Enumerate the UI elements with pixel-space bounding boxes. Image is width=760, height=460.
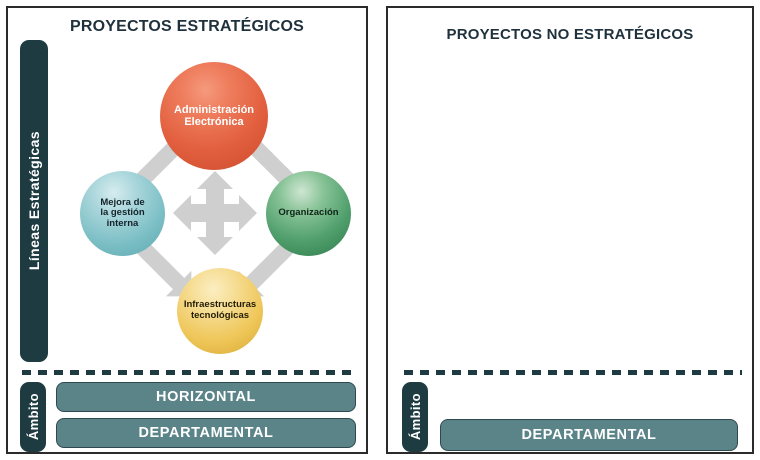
sphere-organizacion[interactable]: Organización (266, 171, 351, 256)
sphere-label-line: la gestión (100, 208, 144, 219)
vertical-label-ambito-right: Ámbito (402, 382, 428, 452)
panel-proyectos-no-estrategicos: PROYECTOS NO ESTRATÉGICOS Ámbito DEPARTA… (386, 6, 754, 454)
diagram-stage: PROYECTOS ESTRATÉGICOS Líneas Estratégic… (0, 0, 760, 460)
sphere-infraestructuras-tecnologicas[interactable]: Infraestructuras tecnológicas (177, 268, 263, 354)
panel-proyectos-estrategicos: PROYECTOS ESTRATÉGICOS Líneas Estratégic… (6, 6, 368, 454)
four-way-arrow-icon (173, 171, 257, 255)
scope-bar-departamental-right[interactable]: DEPARTAMENTAL (440, 419, 738, 451)
sphere-label-line: Organización (278, 208, 338, 219)
sphere-mejora-gestion-interna[interactable]: Mejora de la gestión interna (80, 171, 165, 256)
sphere-label-line: Administración (174, 104, 254, 116)
sphere-label-line: tecnológicas (184, 311, 256, 322)
sphere-label-line: interna (100, 219, 144, 230)
vertical-label-text: Ámbito (408, 393, 423, 440)
sphere-label: Organización (272, 208, 344, 219)
sphere-label: Infraestructuras tecnológicas (178, 300, 262, 321)
sphere-label: Administración Electrónica (168, 104, 260, 129)
sphere-label-line: Infraestructuras (184, 300, 256, 311)
sphere-label-line: Mejora de (100, 198, 144, 209)
page-title-right: PROYECTOS NO ESTRATÉGICOS (388, 26, 752, 43)
sphere-label: Mejora de la gestión interna (94, 198, 150, 230)
section-divider-dashed (404, 370, 742, 375)
sphere-administracion-electronica[interactable]: Administración Electrónica (160, 62, 268, 170)
sphere-label-line: Electrónica (174, 116, 254, 128)
